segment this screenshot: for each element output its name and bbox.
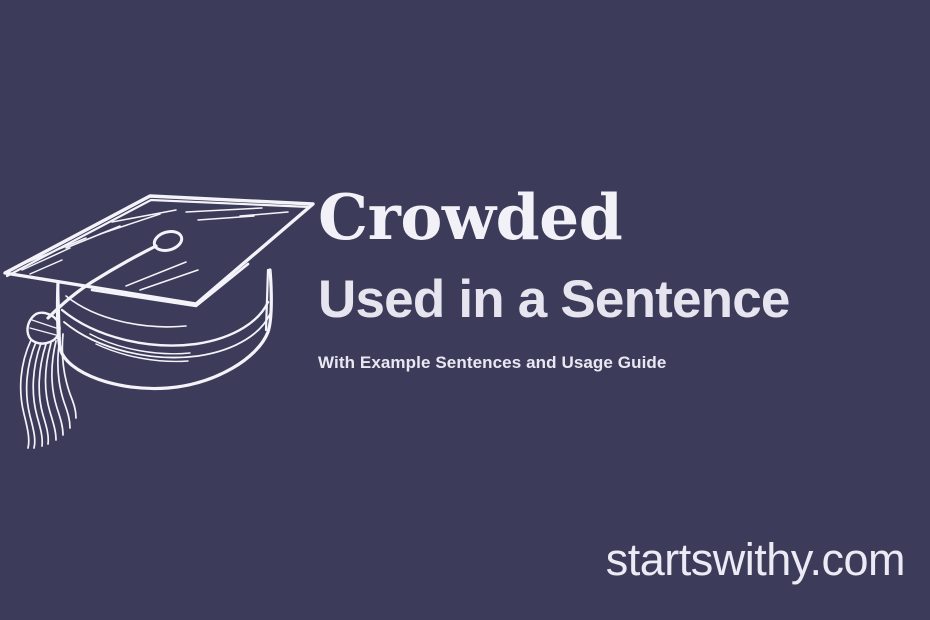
page-title-word: Crowded	[318, 186, 918, 249]
word-banner: Crowded Used in a Sentence With Example …	[0, 0, 930, 620]
page-tagline: With Example Sentences and Usage Guide	[318, 354, 918, 371]
graduation-cap-icon	[0, 178, 320, 453]
site-brand-label: startswithy.com	[606, 537, 905, 582]
page-subtitle-usage: Used in a Sentence	[318, 273, 918, 326]
headline-block: Crowded Used in a Sentence With Example …	[318, 186, 918, 371]
